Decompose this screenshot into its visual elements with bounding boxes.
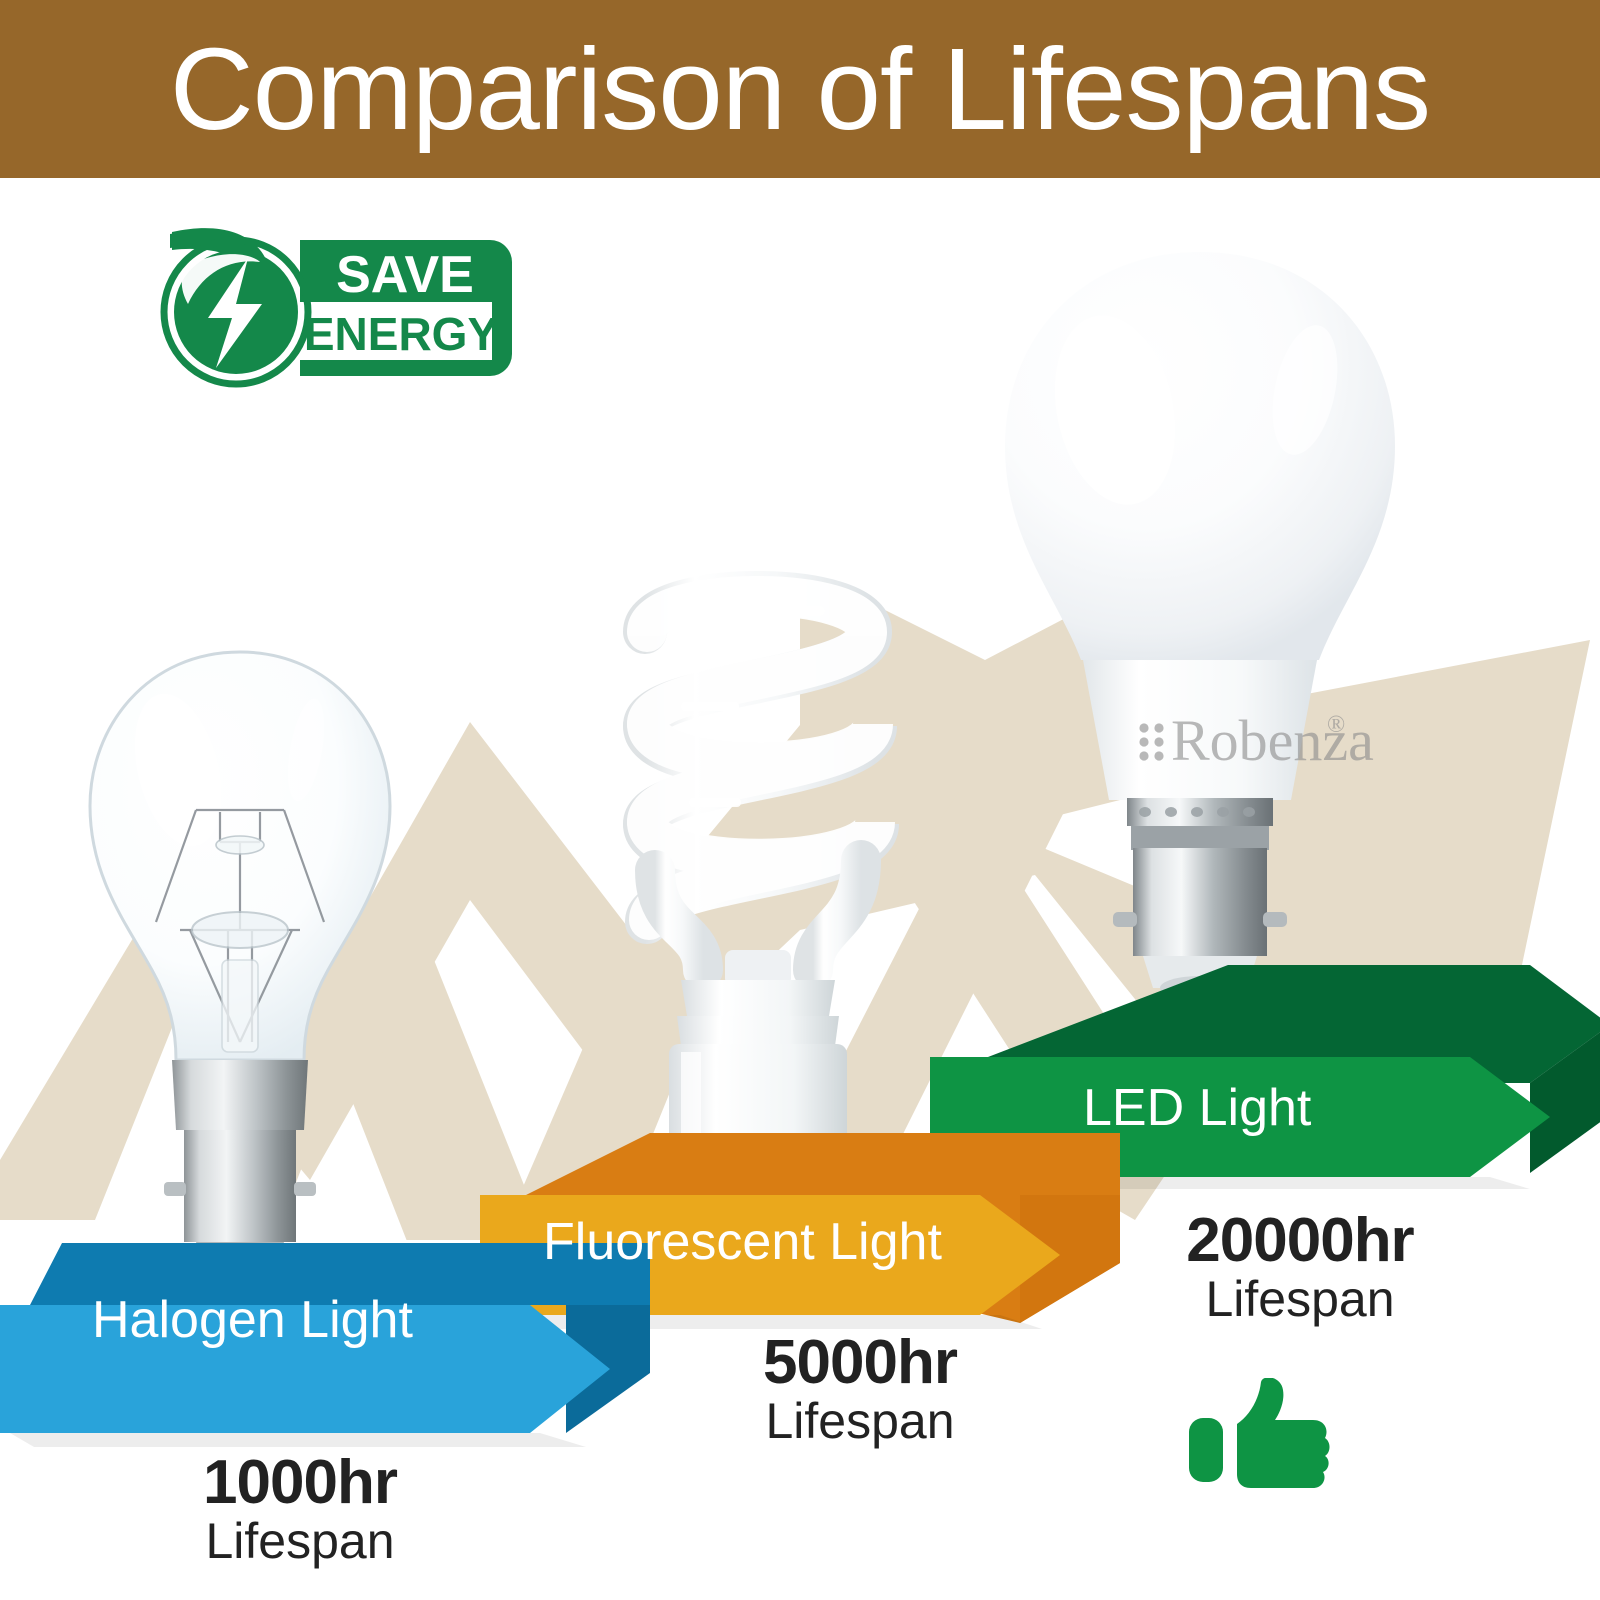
lifespan-word-fluorescent: Lifespan — [660, 1394, 1060, 1448]
banner-label-led: LED Light — [1083, 1078, 1311, 1138]
halogen-bulb-icon — [60, 630, 420, 1310]
lifespan-word-led: Lifespan — [1090, 1272, 1510, 1326]
lifespan-led: 20000hr Lifespan — [1090, 1210, 1510, 1326]
lifespan-hours-halogen: 1000hr — [100, 1452, 500, 1514]
save-label-group: SAVE — [336, 246, 474, 304]
registered-mark: ® — [1327, 712, 1345, 738]
lifespan-hours-fluorescent: 5000hr — [660, 1332, 1060, 1394]
lifespan-word-halogen: Lifespan — [100, 1514, 500, 1568]
save-energy-badge: SAVE ENERGY — [150, 222, 520, 394]
badge-energy-text: ENERGY — [304, 308, 498, 360]
cfl-spiral-bulb-icon — [585, 540, 930, 1170]
page-title: Comparison of Lifespans — [0, 0, 1600, 178]
infographic-canvas: Comparison of Lifespans SAVE ENERGY — [0, 0, 1600, 1600]
lifespan-fluorescent: 5000hr Lifespan — [660, 1332, 1060, 1448]
energy-label-group: ENERGY — [304, 308, 498, 360]
led-bulb-icon: Robenza ® — [975, 240, 1425, 1030]
badge-save-text: SAVE — [336, 246, 474, 304]
lifespan-hours-led: 20000hr — [1090, 1210, 1510, 1272]
header-bar: Comparison of Lifespans — [0, 0, 1600, 178]
banner-label-halogen: Halogen Light — [92, 1290, 413, 1350]
brand-mark: Robenza ® — [1139, 708, 1374, 773]
lifespan-halogen: 1000hr Lifespan — [100, 1452, 500, 1568]
thumbs-up-icon — [1185, 1378, 1335, 1518]
banner-label-fluorescent: Fluorescent Light — [543, 1212, 942, 1272]
banner-halogen — [0, 1243, 650, 1468]
